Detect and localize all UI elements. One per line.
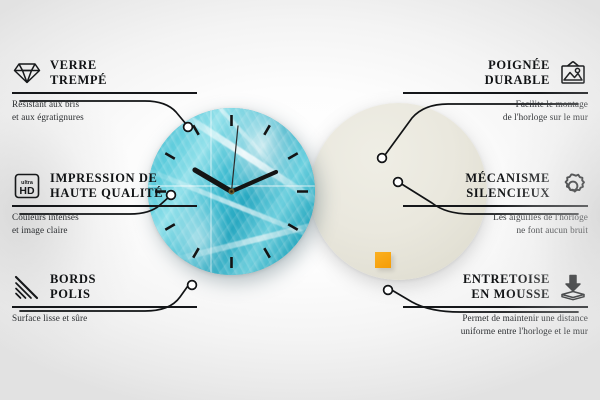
- svg-text:HD: HD: [19, 185, 35, 197]
- callout-entretoise-en-mousse: ENTRETOISE EN MOUSSE Permet de maintenir…: [403, 272, 588, 338]
- gear-icon: [558, 171, 588, 201]
- callout-description: Surface lisse et sûre: [12, 312, 197, 325]
- callout-poignee-durable: POIGNÉE DURABLE Facilite le montage de l…: [403, 58, 588, 124]
- callout-title: MÉCANISME SILENCIEUX: [465, 171, 550, 201]
- callout-mecanisme-silencieux: MÉCANISME SILENCIEUX Les aiguilles de l'…: [403, 171, 588, 237]
- foam-spacer-sample: [375, 252, 391, 268]
- callout-header: BORDS POLIS: [12, 272, 197, 302]
- callout-divider: [12, 306, 197, 308]
- callout-description: Facilite le montage de l'horloge sur le …: [403, 98, 588, 124]
- ultra-hd-icon: ultra HD: [12, 171, 42, 201]
- callout-header: MÉCANISME SILENCIEUX: [403, 171, 588, 201]
- hotspot-entretoise[interactable]: [384, 286, 393, 295]
- callout-verre-trempe: VERRE TREMPÉ Résistant aux bris et aux é…: [12, 58, 197, 124]
- callout-divider: [12, 205, 197, 207]
- polished-edges-icon: [12, 272, 42, 302]
- callout-divider: [12, 92, 197, 94]
- callout-impression-haute-qualite: ultra HD IMPRESSION DE HAUTE QUALITÉ Cou…: [12, 171, 197, 237]
- callout-divider: [403, 92, 588, 94]
- callout-header: VERRE TREMPÉ: [12, 58, 197, 88]
- callout-title: BORDS POLIS: [50, 272, 96, 302]
- picture-frame-hanger-icon: [558, 58, 588, 88]
- callout-header: ENTRETOISE EN MOUSSE: [403, 272, 588, 302]
- callout-title: VERRE TREMPÉ: [50, 58, 107, 88]
- callout-description: Résistant aux bris et aux égratignures: [12, 98, 197, 124]
- infographic-canvas: VERRE TREMPÉ Résistant aux bris et aux é…: [0, 0, 600, 400]
- callout-bords-polis: BORDS POLIS Surface lisse et sûre: [12, 272, 197, 325]
- callout-title: ENTRETOISE EN MOUSSE: [463, 272, 550, 302]
- callout-title: IMPRESSION DE HAUTE QUALITÉ: [50, 171, 163, 201]
- callout-header: ultra HD IMPRESSION DE HAUTE QUALITÉ: [12, 171, 197, 201]
- callout-title: POIGNÉE DURABLE: [485, 58, 550, 88]
- callout-divider: [403, 205, 588, 207]
- callout-description: Permet de maintenir une distance uniform…: [403, 312, 588, 338]
- callout-description: Couleurs intenses et image claire: [12, 211, 197, 237]
- callout-divider: [403, 306, 588, 308]
- diamond-icon: [12, 58, 42, 88]
- callout-header: POIGNÉE DURABLE: [403, 58, 588, 88]
- foam-spacer-arrow-icon: [558, 272, 588, 302]
- callout-description: Les aiguilles de l'horloge ne font aucun…: [403, 211, 588, 237]
